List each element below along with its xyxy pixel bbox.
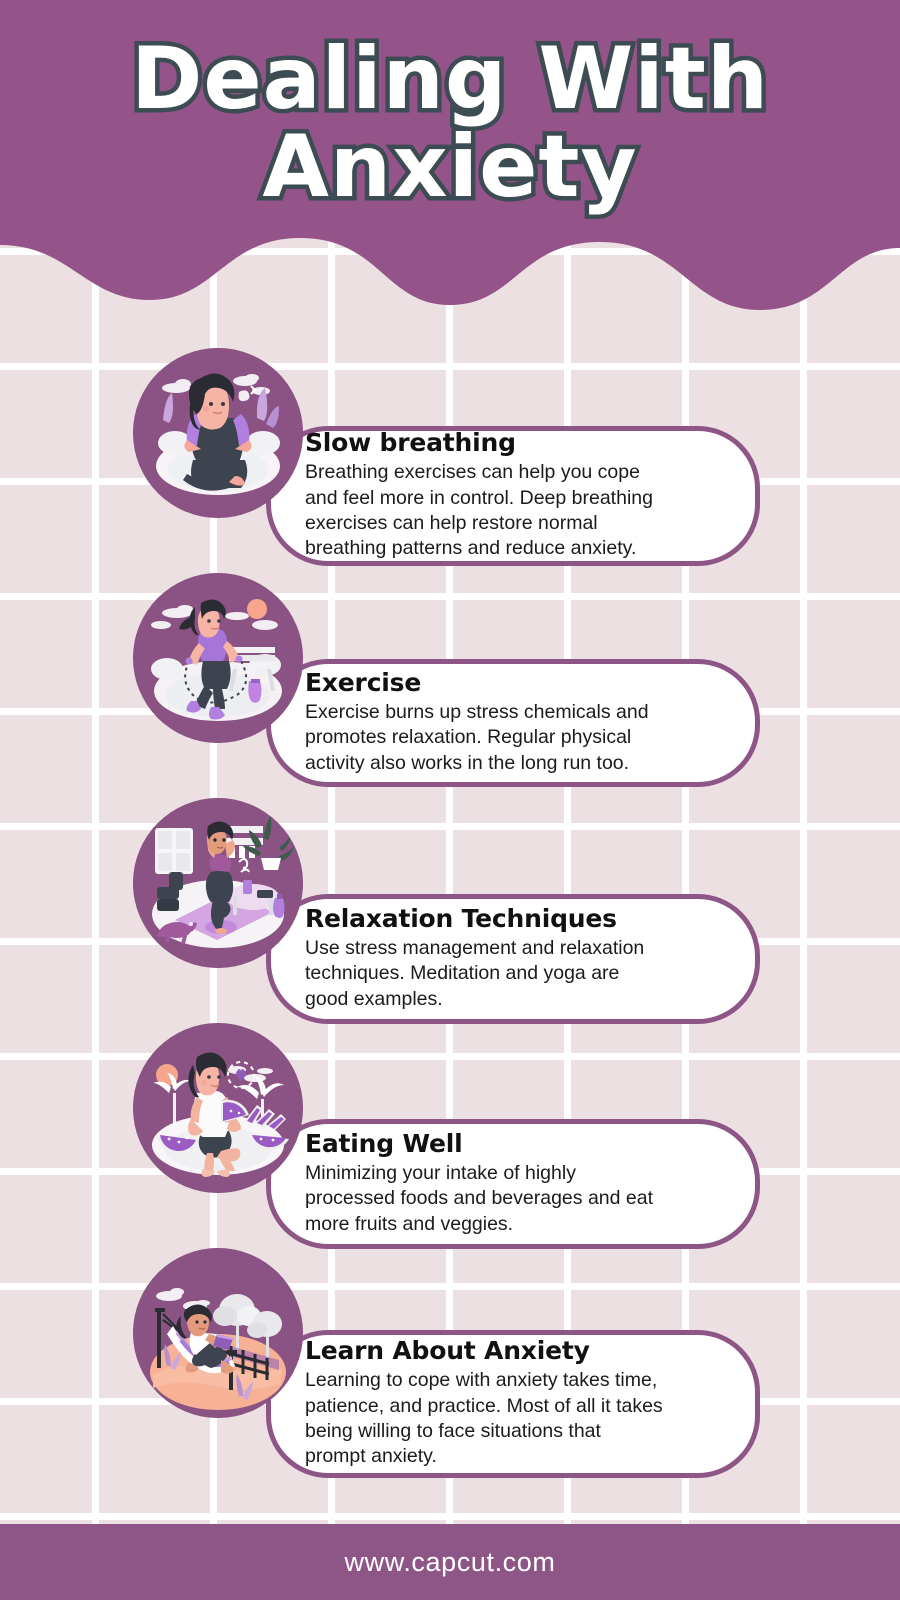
woman-meditating-lotus-pose-icon — [133, 348, 303, 518]
tip-title: Eating Well — [305, 1129, 721, 1158]
header-wave-shape — [0, 0, 900, 320]
tip-title: Relaxation Techniques — [305, 904, 721, 933]
footer-bar: www.capcut.com — [0, 1524, 900, 1600]
tip-body: Breathing exercises can help you cope an… — [305, 460, 721, 561]
tip-body: Learning to cope with anxiety takes time… — [305, 1368, 721, 1469]
tip-card[interactable]: Slow breathing Breathing exercises can h… — [266, 426, 760, 566]
woman-yoga-tree-pose-icon — [133, 798, 303, 968]
woman-eating-watermelon-beach-icon — [133, 1023, 303, 1193]
tip-body: Minimizing your intake of highly process… — [305, 1161, 721, 1237]
tip-title: Learn About Anxiety — [305, 1336, 721, 1365]
tip-illustration — [133, 1248, 303, 1418]
tip-card[interactable]: Exercise Exercise burns up stress chemic… — [266, 659, 760, 787]
tip-title: Slow breathing — [305, 428, 721, 457]
tip-card[interactable]: Relaxation Techniques Use stress managem… — [266, 894, 760, 1024]
tip-body: Exercise burns up stress chemicals and p… — [305, 700, 721, 776]
tip-card[interactable]: Learn About Anxiety Learning to cope wit… — [266, 1330, 760, 1478]
footer-url[interactable]: www.capcut.com — [345, 1547, 556, 1578]
woman-jumping-rope-icon — [133, 573, 303, 743]
tip-illustration — [133, 798, 303, 968]
woman-reading-in-hammock-icon — [133, 1248, 303, 1418]
poster-header: Dealing With Anxiety — [0, 0, 900, 320]
tip-body: Use stress management and relaxation tec… — [305, 936, 721, 1012]
tip-illustration — [133, 348, 303, 518]
tip-illustration — [133, 1023, 303, 1193]
tip-illustration — [133, 573, 303, 743]
tip-card[interactable]: Eating Well Minimizing your intake of hi… — [266, 1119, 760, 1249]
tip-title: Exercise — [305, 668, 721, 697]
